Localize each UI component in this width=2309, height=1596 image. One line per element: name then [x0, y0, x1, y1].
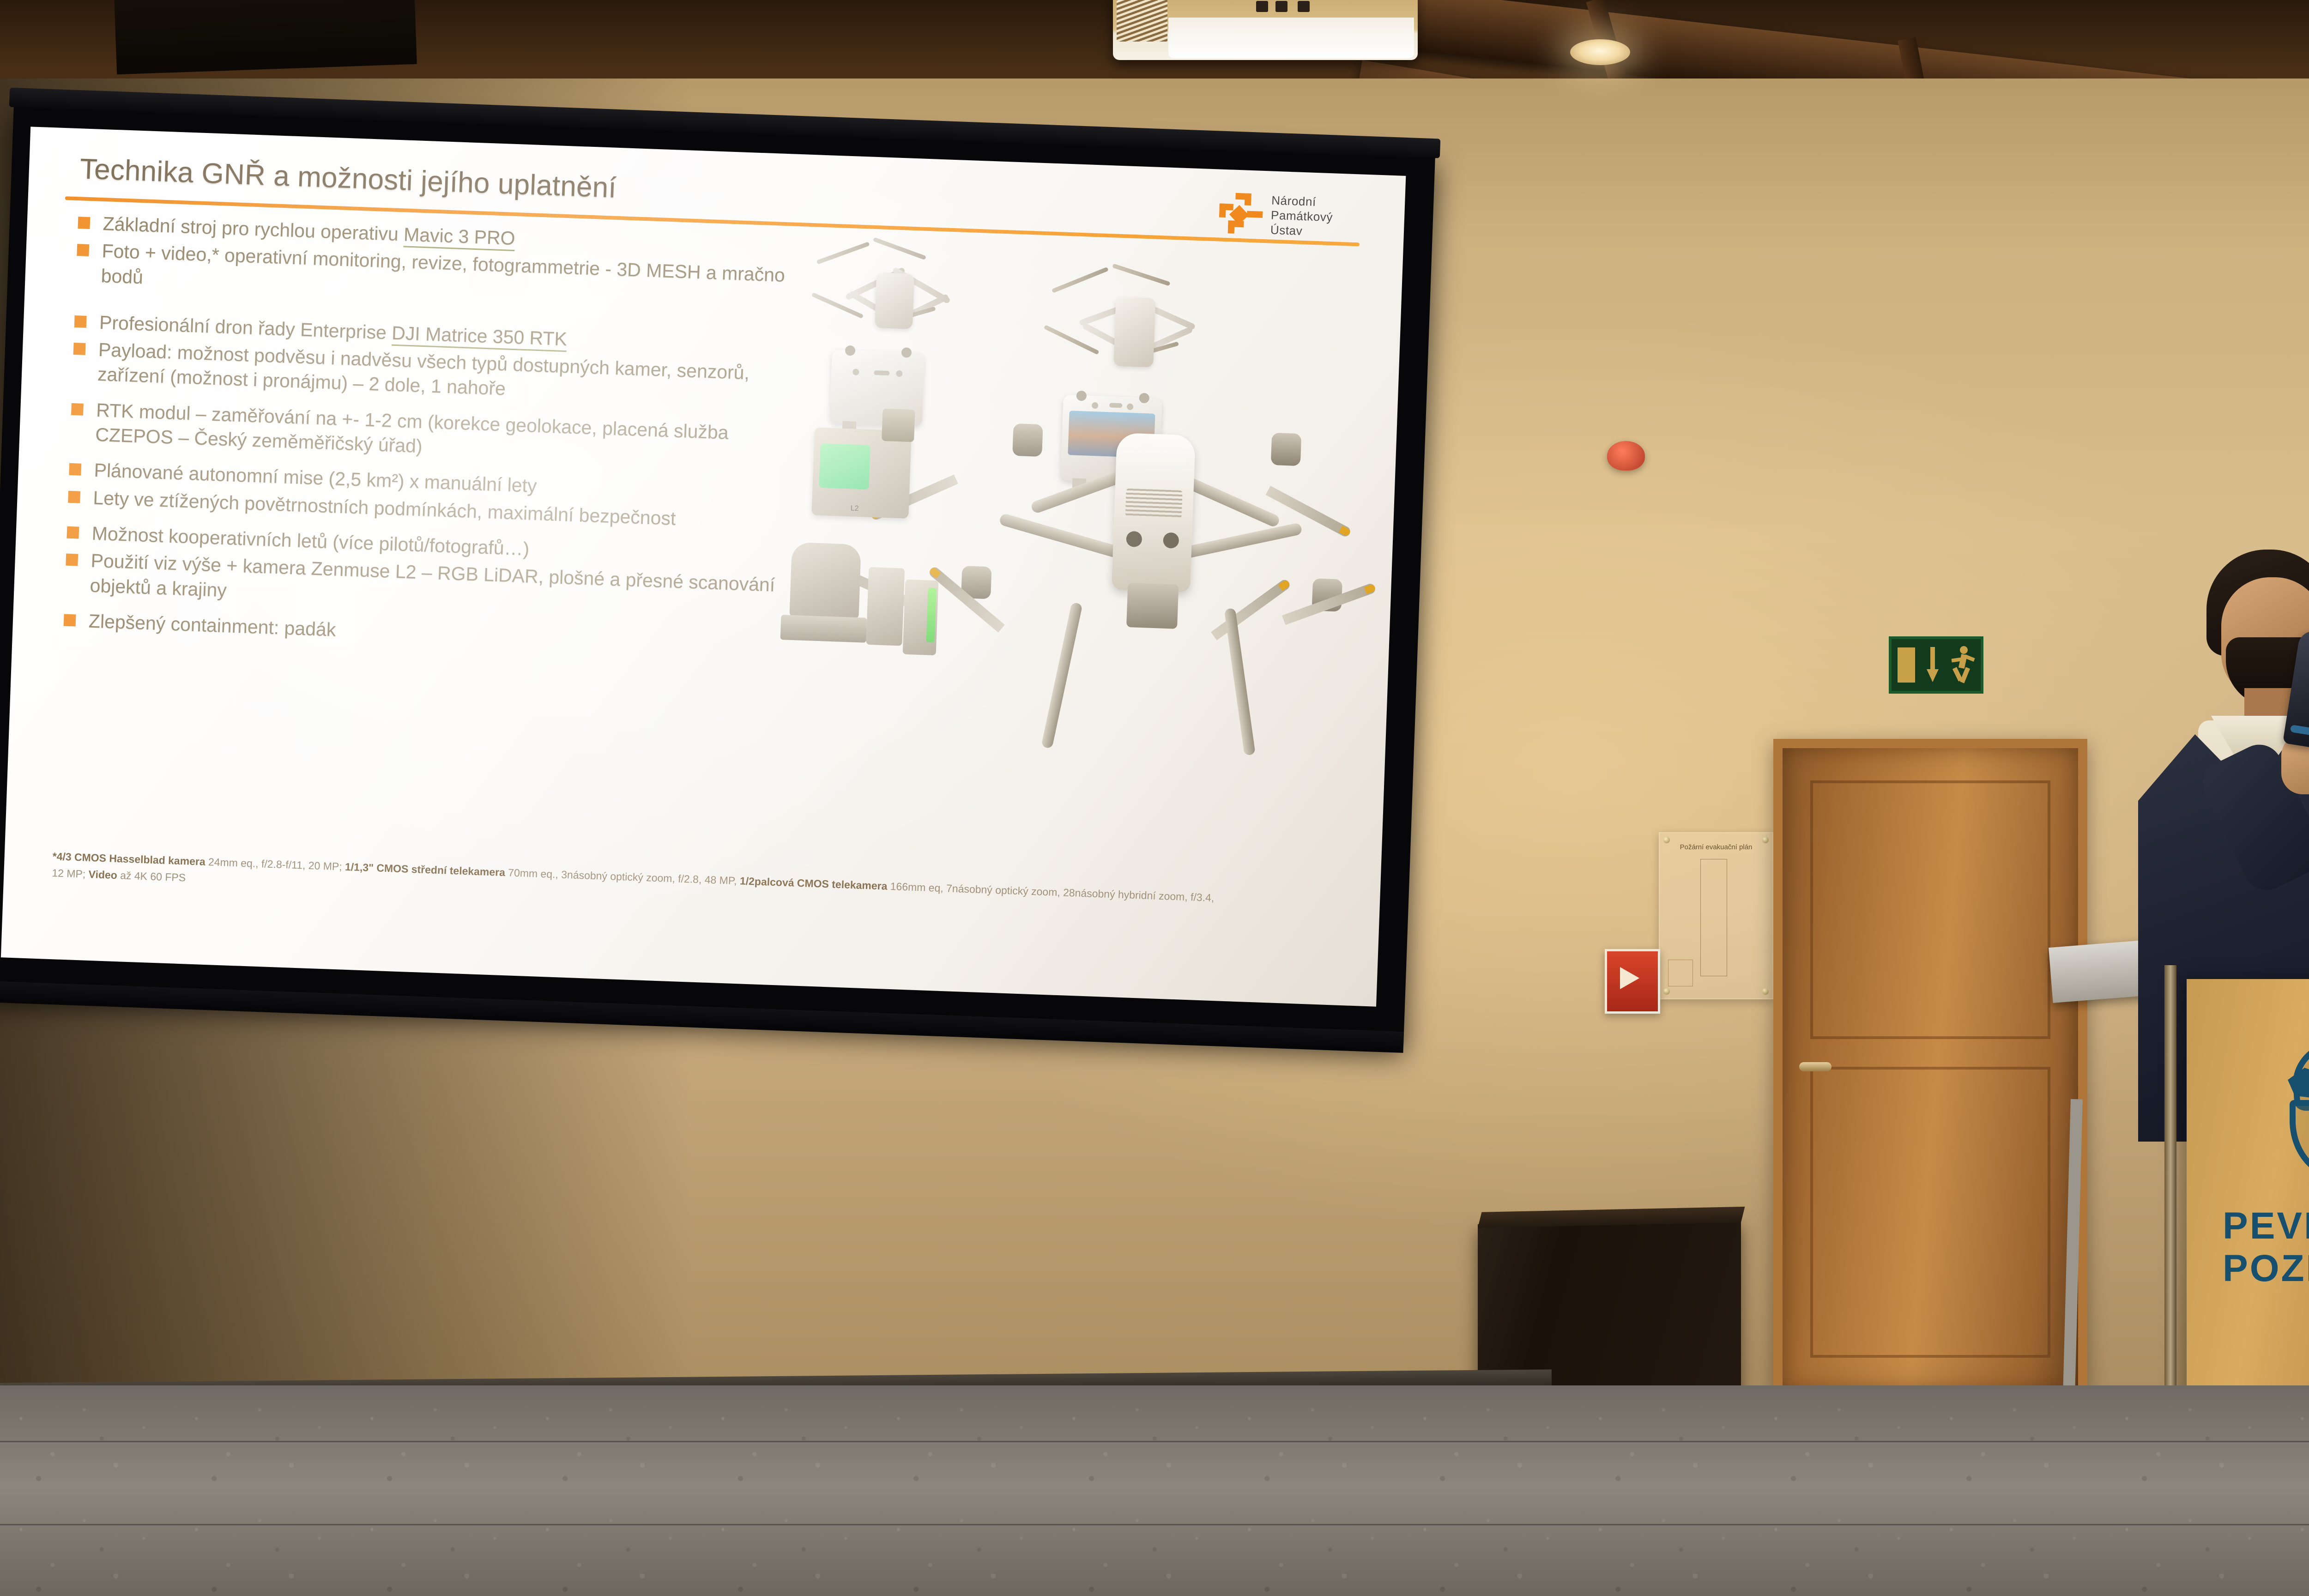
slide-bullet-list: Základní stroj pro rychlou operativu Mav…: [60, 211, 796, 661]
npu-logo-line-3: Ústav: [1270, 223, 1332, 239]
floor: [0, 1385, 2309, 1596]
presentation-slide: Technika GNŘ a možnosti jejího uplatnění…: [1, 127, 1406, 1006]
fire-alarm-call-point: [1605, 949, 1660, 1014]
payload-accessories-image: L2: [787, 427, 935, 690]
door-handle[interactable]: [1799, 1062, 1831, 1071]
footnote-seg3-bold: 1/2palcová CMOS telekamera: [740, 875, 888, 892]
floor-texture: [0, 1385, 2309, 1596]
footnote-seg4: až 4K 60 FPS: [117, 869, 186, 883]
dji-matrice-350-rtk-drone-image: [927, 404, 1374, 780]
matrice-fuselage: [1112, 433, 1196, 592]
evacuation-plan-legend: [1668, 960, 1693, 986]
mavic-3-pro-folded-drone-image: [1038, 255, 1227, 387]
bullet-underlined-term: DJI Matrice 350 RTK: [391, 322, 567, 352]
footnote-seg1-bold: *4/3 CMOS Hasselblad kamera: [52, 850, 206, 868]
payload-accessory-c: [903, 580, 939, 655]
door-panel-lower: [1810, 1067, 2050, 1358]
evacuation-plan-frame: Požární evakuační plán: [1659, 832, 1773, 999]
projector-port: [1256, 1, 1268, 12]
slide-product-images: L2: [771, 233, 1389, 882]
npu-logo-line-1: Národní: [1271, 193, 1334, 210]
running-person-icon: [1951, 646, 1975, 684]
projector-vent: [1117, 0, 1167, 42]
presentation-photo-scene: Technika GNŘ a možnosti jejího uplatnění…: [0, 0, 2309, 1596]
evacuation-plan-caption: Požární evakuační plán: [1660, 843, 1772, 851]
evacuation-plan-floorplan: [1700, 859, 1727, 976]
footnote-seg4-bold: Video: [88, 868, 117, 881]
footnote-seg2-bold: 1/1,3" CMOS střední telekamera: [345, 861, 506, 878]
npu-logo-mark-icon: [1217, 191, 1263, 237]
exit-door-glyph: [1898, 647, 1915, 683]
projector-body: [1168, 18, 1414, 58]
npu-logo-line-2: Památkový: [1271, 208, 1333, 225]
ceiling-duct: [114, 0, 417, 74]
door-panel-upper: [1810, 780, 2050, 1039]
matrice-gimbal: [1126, 583, 1179, 629]
lectern-brand-line-2: POZNÁN: [2223, 1247, 2309, 1290]
floor-seam: [0, 1441, 2309, 1442]
payload-accessory-b: [866, 567, 905, 646]
zenmuse-model-label: L2: [850, 504, 858, 513]
projector-port: [1275, 1, 1287, 12]
shield-body-icon: UP: [2290, 1100, 2309, 1179]
footnote-seg2: 70mm eq., 3násobný optický zoom, f/2.8, …: [505, 866, 740, 887]
organisation-logo: Národní Památkový Ústav: [1217, 191, 1333, 240]
zenmuse-l2-camera-image: L2: [811, 427, 912, 518]
bullet-underlined-term: Mavic 3 PRO: [403, 224, 515, 251]
floor-seam: [0, 1524, 2309, 1525]
mavic-3-pro-drone-image: [809, 233, 979, 345]
down-arrow-icon: [1927, 647, 1939, 683]
ceiling-downlight-icon: [1570, 39, 1630, 65]
ceiling-projector: [1113, 0, 1418, 60]
wooden-door[interactable]: [1773, 739, 2087, 1399]
payload-accessory-a: [789, 542, 861, 618]
lectern-brand-line-1: PEVNOS: [2223, 1204, 2309, 1248]
slide-title: Technika GNŘ a možnosti jejího uplatnění: [79, 152, 617, 205]
projection-screen: Technika GNŘ a možnosti jejího uplatnění…: [0, 104, 1435, 1046]
emergency-exit-sign: [1889, 636, 1983, 694]
pevnost-poznani-shield-logo: UP: [2281, 1039, 2309, 1178]
shield-face-icon: [2288, 1068, 2309, 1098]
footnote-seg1: 24mm eq., f/2.8-f/11, 20 MP;: [205, 856, 345, 873]
npu-logo-text: Národní Památkový Ústav: [1270, 193, 1333, 240]
projector-port: [1298, 1, 1310, 12]
smoke-detector-icon: [1607, 441, 1645, 471]
